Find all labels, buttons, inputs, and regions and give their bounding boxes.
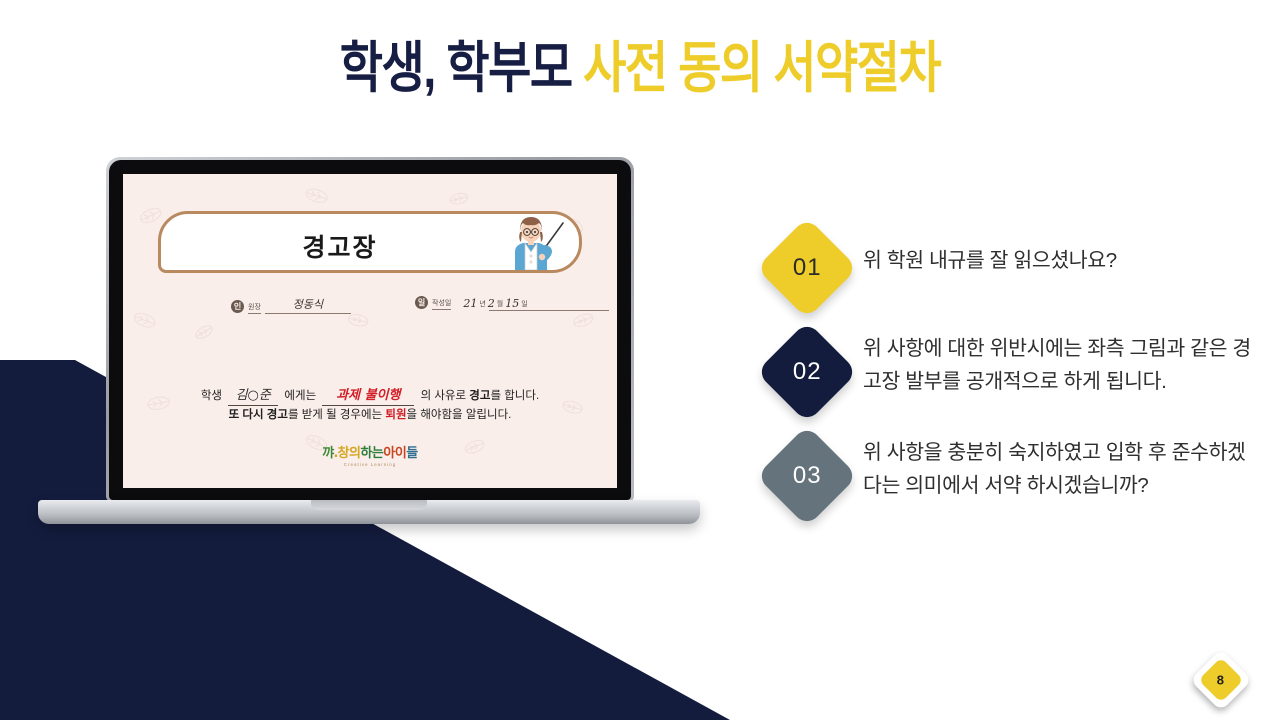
logo-part-1: 꺄 <box>322 445 333 460</box>
director-name-handwritten: 정동식 <box>265 296 351 314</box>
laptop-base <box>38 500 700 524</box>
date-month-value: 2 <box>486 297 497 310</box>
logo-part-5: 들 <box>406 445 417 460</box>
badge-slot: 03 <box>755 434 863 526</box>
director-signature-field: 인 원장 정동식 <box>231 296 351 314</box>
page-title: 학생, 학부모 사전 동의 서약절차 <box>0 40 1280 87</box>
date-underline <box>489 310 609 311</box>
line1-reason-suffix: 의 사유로 <box>421 390 467 402</box>
academy-logo: 꺄․창의하는아이들 Creative Learning <box>123 442 617 467</box>
line2-suffix: 을 해야함을 알립니다. <box>407 409 512 421</box>
logo-part-2: ․창의 <box>334 445 361 460</box>
title-segment-yellow: 사전 동의 서약절차 <box>583 36 940 99</box>
badge-slot: 02 <box>755 330 863 422</box>
student-name-handwritten: 김○준 <box>228 386 278 406</box>
date-label: 작성일 <box>432 298 451 310</box>
date-year-value: 21 <box>461 297 479 310</box>
certificate-body: 학생 김○준 에게는 과제 불이행 의 사유로 경고를 합니다. 또 다시 경고… <box>143 386 597 425</box>
date-seal-icon: 일 <box>415 296 428 309</box>
warning-certificate: 경고장 <box>123 174 617 488</box>
laptop-notch <box>311 500 427 510</box>
step-text-02: 위 사항에 대한 위반시에는 좌측 그림과 같은 경고장 발부를 공개적으로 하… <box>863 330 1260 398</box>
reason-handwritten: 과제 불이행 <box>322 386 414 406</box>
laptop-lid: 경고장 <box>106 157 634 502</box>
list-item[interactable]: 01 위 학원 내규를 잘 읽으셨나요? <box>755 226 1260 318</box>
line1-mid: 에게는 <box>284 390 316 402</box>
date-day-unit: 일 <box>521 299 527 310</box>
date-field: 일 작성일 21 년 2 월 15 일 <box>415 296 528 310</box>
presentation-slide: 학생, 학부모 사전 동의 서약절차 <box>0 0 1280 720</box>
certificate-body-line-1: 학생 김○준 에게는 과제 불이행 의 사유로 경고를 합니다. <box>143 386 597 406</box>
certificate-body-line-2: 또 다시 경고를 받게 될 경우에는 퇴원을 해야함을 알립니다. <box>143 406 597 425</box>
steps-list: 01 위 학원 내규를 잘 읽으셨나요? 02 위 사항에 대한 위반시에는 좌… <box>755 226 1260 538</box>
logo-tagline: Creative Learning <box>123 462 617 467</box>
warning-keyword: 경고 <box>469 390 490 402</box>
laptop-screen: 경고장 <box>123 174 617 488</box>
line1-suffix: 를 합니다. <box>490 390 539 402</box>
teacher-illustration <box>495 212 567 270</box>
line1-prefix: 학생 <box>201 390 222 402</box>
date-day-value: 15 <box>503 297 521 310</box>
seal-icon: 인 <box>231 300 244 313</box>
badge-slot: 01 <box>755 226 863 318</box>
page-number: 8 <box>1217 672 1224 687</box>
step-text-01: 위 학원 내규를 잘 읽으셨나요? <box>863 226 1260 277</box>
director-label: 원장 <box>248 302 261 314</box>
laptop-mockup: 경고장 <box>100 157 638 507</box>
line2-mid: 를 받게 될 경우에는 <box>288 409 382 421</box>
second-warning-keyword: 또 다시 경고 <box>229 409 288 421</box>
certificate-signature-row: 인 원장 정동식 일 작성일 21 년 2 <box>163 296 577 318</box>
step-badge-02: 02 <box>756 321 858 423</box>
logo-part-3: 하는 <box>360 445 383 460</box>
step-badge-01: 01 <box>756 217 858 319</box>
step-badge-03: 03 <box>756 425 858 527</box>
laptop-bezel: 경고장 <box>109 160 631 500</box>
step-number: 02 <box>793 358 822 386</box>
page-number-badge: 8 <box>1199 658 1243 702</box>
certificate-header-box: 경고장 <box>158 211 582 273</box>
step-text-03: 위 사항을 충분히 숙지하였고 입학 후 준수하겠다는 의미에서 서약 하시겠습… <box>863 434 1260 502</box>
step-number: 03 <box>793 462 822 490</box>
list-item[interactable]: 03 위 사항을 충분히 숙지하였고 입학 후 준수하겠다는 의미에서 서약 하… <box>755 434 1260 526</box>
title-segment-navy: 학생, 학부모 <box>340 36 583 99</box>
logo-part-4: 아이 <box>383 445 406 460</box>
list-item[interactable]: 02 위 사항에 대한 위반시에는 좌측 그림과 같은 경고장 발부를 공개적으… <box>755 330 1260 422</box>
step-number: 01 <box>793 254 822 282</box>
expulsion-keyword: 퇴원 <box>385 409 406 421</box>
